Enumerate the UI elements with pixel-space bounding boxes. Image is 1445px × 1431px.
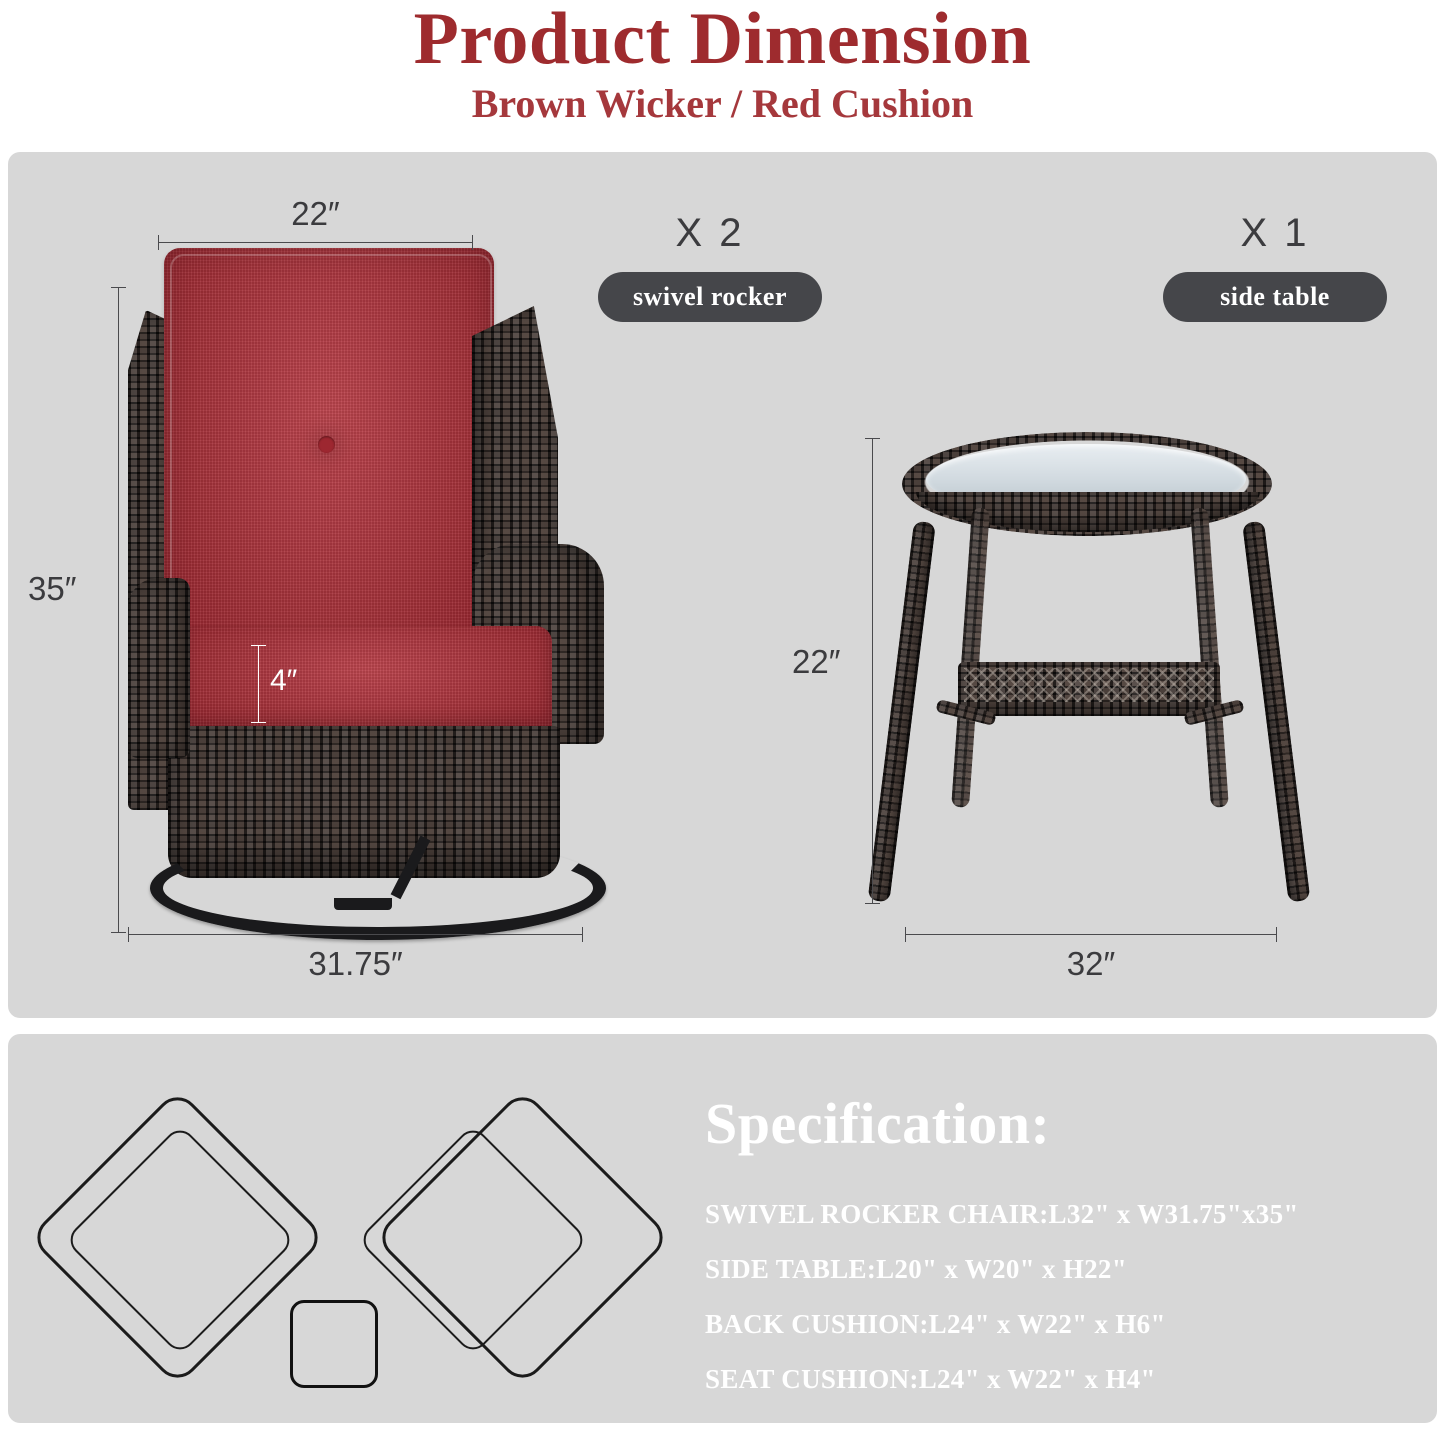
chair-back-cushion-piping	[170, 254, 492, 662]
specification-block: Specification: SWIVEL ROCKER CHAIR:L32" …	[705, 1095, 1425, 1421]
badge-side-table: side table	[1163, 272, 1387, 322]
infographic-root: Product Dimension Brown Wicker / Red Cus…	[0, 0, 1445, 1431]
specification-line: BACK CUSHION:L24" x W22" x H6"	[705, 1311, 1425, 1338]
side-table-height-label: 22″	[792, 645, 840, 678]
specification-line: SWIVEL ROCKER CHAIR:L32" x W31.75"x35"	[705, 1201, 1425, 1228]
chair-swivel-base-ring	[150, 836, 606, 940]
packaging-box-center-outline	[290, 1300, 378, 1388]
chair-depth-dimension-line	[128, 934, 583, 935]
chair-cushion-button	[318, 436, 335, 453]
side-table-width-label: 32″	[905, 947, 1277, 980]
side-table-height-dimension-line	[872, 438, 873, 904]
page-header: Product Dimension Brown Wicker / Red Cus…	[0, 0, 1445, 140]
side-table-leg-back-right	[1190, 507, 1229, 808]
chair-width-dimension-line	[158, 242, 473, 243]
side-table-width-dimension-line	[905, 934, 1277, 935]
page-title: Product Dimension	[0, 2, 1445, 76]
quantity-side-table: X 1	[1165, 213, 1385, 253]
quantity-swivel-rocker: X 2	[600, 213, 820, 253]
seat-cushion-thickness-label: 4″	[270, 666, 297, 696]
chair-overall-width-label: 31.75″	[128, 947, 583, 980]
specification-line: SEAT CUSHION:L24" x W22" x H4"	[705, 1366, 1425, 1393]
chair-left-armrest	[128, 578, 190, 758]
chair-seat-cushion	[182, 626, 552, 734]
packaging-box-left-inner-outline	[64, 1124, 296, 1356]
side-table-shelf-mesh	[964, 668, 1214, 702]
packaging-box-right	[385, 1100, 685, 1400]
chair-back-cushion-width-label: 22″	[158, 197, 473, 230]
chair-height-dimension-line	[118, 287, 119, 933]
specification-line: SIDE TABLE:L20" x W20" x H22"	[705, 1256, 1425, 1283]
swivel-rocker-illustration	[120, 248, 640, 913]
packaging-box-center	[290, 1300, 400, 1410]
chair-swivel-base-foot	[334, 898, 392, 910]
specification-heading: Specification:	[705, 1095, 1425, 1153]
badge-swivel-rocker-label: swivel rocker	[633, 282, 787, 312]
chair-height-label: 35″	[28, 572, 76, 605]
seat-cushion-thickness-line	[258, 645, 259, 723]
badge-side-table-label: side table	[1220, 282, 1330, 312]
side-table-leg-back-left	[951, 507, 990, 808]
page-subtitle: Brown Wicker / Red Cushion	[0, 84, 1445, 124]
side-table-illustration	[880, 430, 1300, 920]
